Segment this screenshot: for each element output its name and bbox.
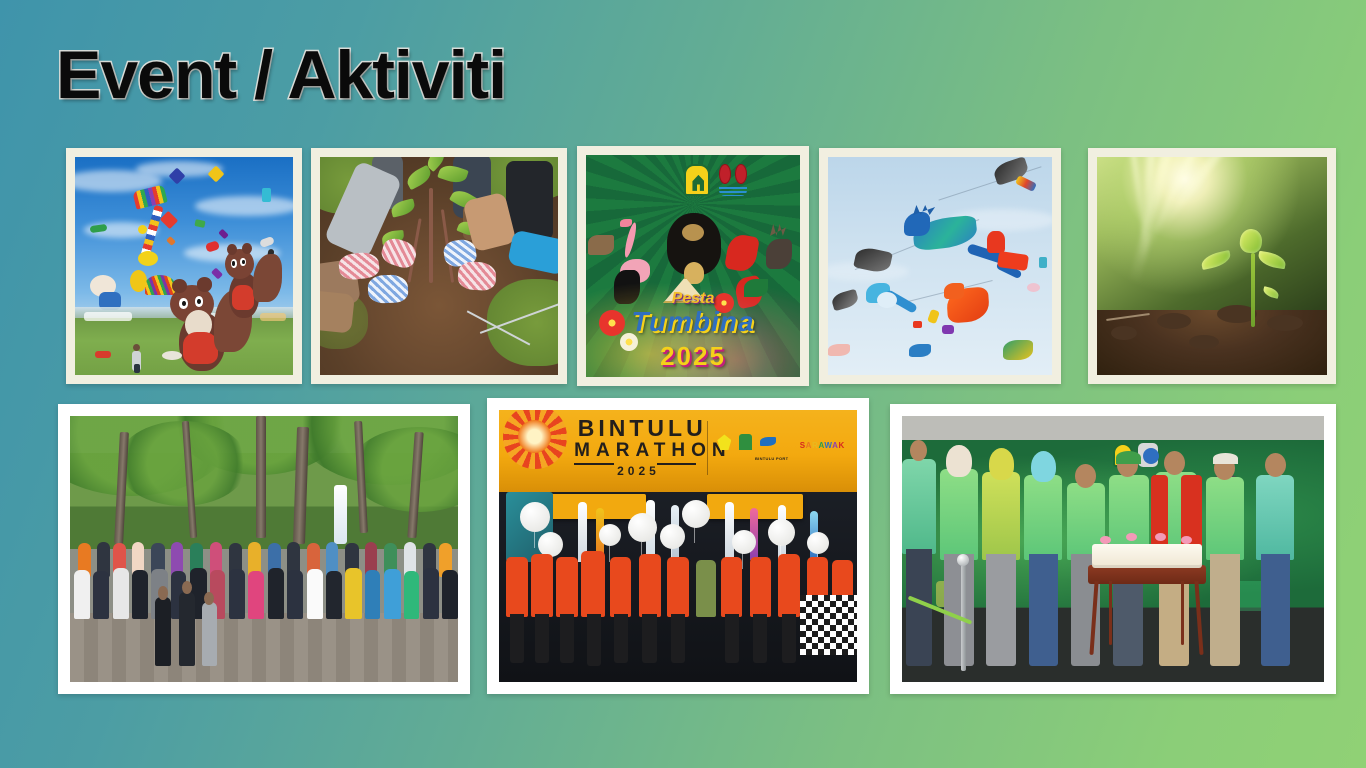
photo-seedling <box>1097 157 1327 375</box>
marathon-title-line-2: MARATHON <box>574 440 731 462</box>
kite-icon <box>1003 340 1033 360</box>
hijab-icon <box>1031 451 1056 483</box>
balloon-icon <box>768 519 795 546</box>
chipmunk-kite-icon <box>219 244 284 322</box>
kite-icon <box>1039 257 1047 268</box>
kite-icon <box>942 325 954 334</box>
sun-bear-muzzle-icon <box>682 224 704 241</box>
photo-kite-festival <box>75 157 293 375</box>
yellow-balloon-icon <box>130 270 147 292</box>
marathon-title-line-1: BINTULU <box>578 415 707 442</box>
checkered-flag-icon <box>800 595 857 655</box>
kite-icon <box>828 344 850 356</box>
kite-icon <box>160 210 178 228</box>
cake-flower-icon <box>1126 533 1137 541</box>
hijab-icon <box>946 445 971 477</box>
photo-frame-tree-planting[interactable] <box>311 148 567 384</box>
smiley-balloon-icon <box>138 251 158 266</box>
poster-line-3: 2025 <box>586 341 800 372</box>
kite-icon <box>194 219 205 228</box>
event-banner-flag <box>334 485 347 544</box>
cake-flower-icon <box>1181 536 1192 544</box>
kite-icon <box>909 344 931 357</box>
sarawak-logo-label: SARAWAK <box>800 441 845 450</box>
ceremony-table <box>1088 565 1206 584</box>
feather-flag <box>725 502 734 559</box>
glove-icon <box>367 274 408 303</box>
kite-icon <box>927 308 940 323</box>
bird-kite-icon <box>831 289 860 312</box>
council-logo-icon <box>684 164 710 196</box>
photo-frame-kite-festival[interactable] <box>66 148 302 384</box>
bintulu-port-label: BINTULU PORT <box>755 456 788 461</box>
kite-icon <box>262 188 271 202</box>
kite-icon <box>218 229 229 240</box>
ceremonial-cake <box>1092 544 1202 568</box>
balloon-icon <box>682 500 710 528</box>
photo-frame-cake-cutting[interactable] <box>890 404 1336 694</box>
kite-icon <box>166 236 176 246</box>
photo-frame-animal-kites[interactable] <box>819 148 1061 384</box>
marathon-title-line-3: 2025 <box>617 464 660 478</box>
blue-kite-tail-icon <box>877 292 897 308</box>
kite-icon <box>1027 283 1040 292</box>
photo-animal-kites <box>828 157 1052 375</box>
dinosaur-kite-head-icon <box>944 283 964 299</box>
photo-pesta-tumbina-poster: Pesta Tumbina 2025 <box>586 155 800 377</box>
balloon-icon <box>732 530 756 554</box>
red-kite-icon <box>987 231 1005 253</box>
photo-tree-planting <box>320 157 558 375</box>
cake-flower-icon <box>1100 536 1111 544</box>
kite-icon <box>913 321 922 328</box>
council-logo-icon <box>739 434 752 450</box>
hijab-icon <box>989 448 1014 480</box>
marathon-sun-logo-icon <box>503 410 567 469</box>
photo-cake-cutting <box>902 416 1324 682</box>
kite-tail-icon <box>1015 175 1037 192</box>
photo-frame-seedling[interactable] <box>1088 148 1336 384</box>
photo-group-run <box>70 416 458 682</box>
photo-frame-group-run[interactable] <box>58 404 470 694</box>
page-title: Event / Aktiviti <box>56 36 506 114</box>
photo-frame-pesta-tumbina-poster[interactable]: Pesta Tumbina 2025 <box>577 146 809 386</box>
seahorse-kite-head-icon <box>904 212 930 236</box>
photo-frame-bintulu-marathon[interactable]: BINTULU MARATHON 2025 BINTULU PORT SARAW… <box>487 398 869 694</box>
photo-bintulu-marathon: BINTULU MARATHON 2025 BINTULU PORT SARAW… <box>499 410 857 682</box>
globe-logo-icon <box>719 164 747 198</box>
poster-line-2: Tumbina <box>586 306 800 338</box>
